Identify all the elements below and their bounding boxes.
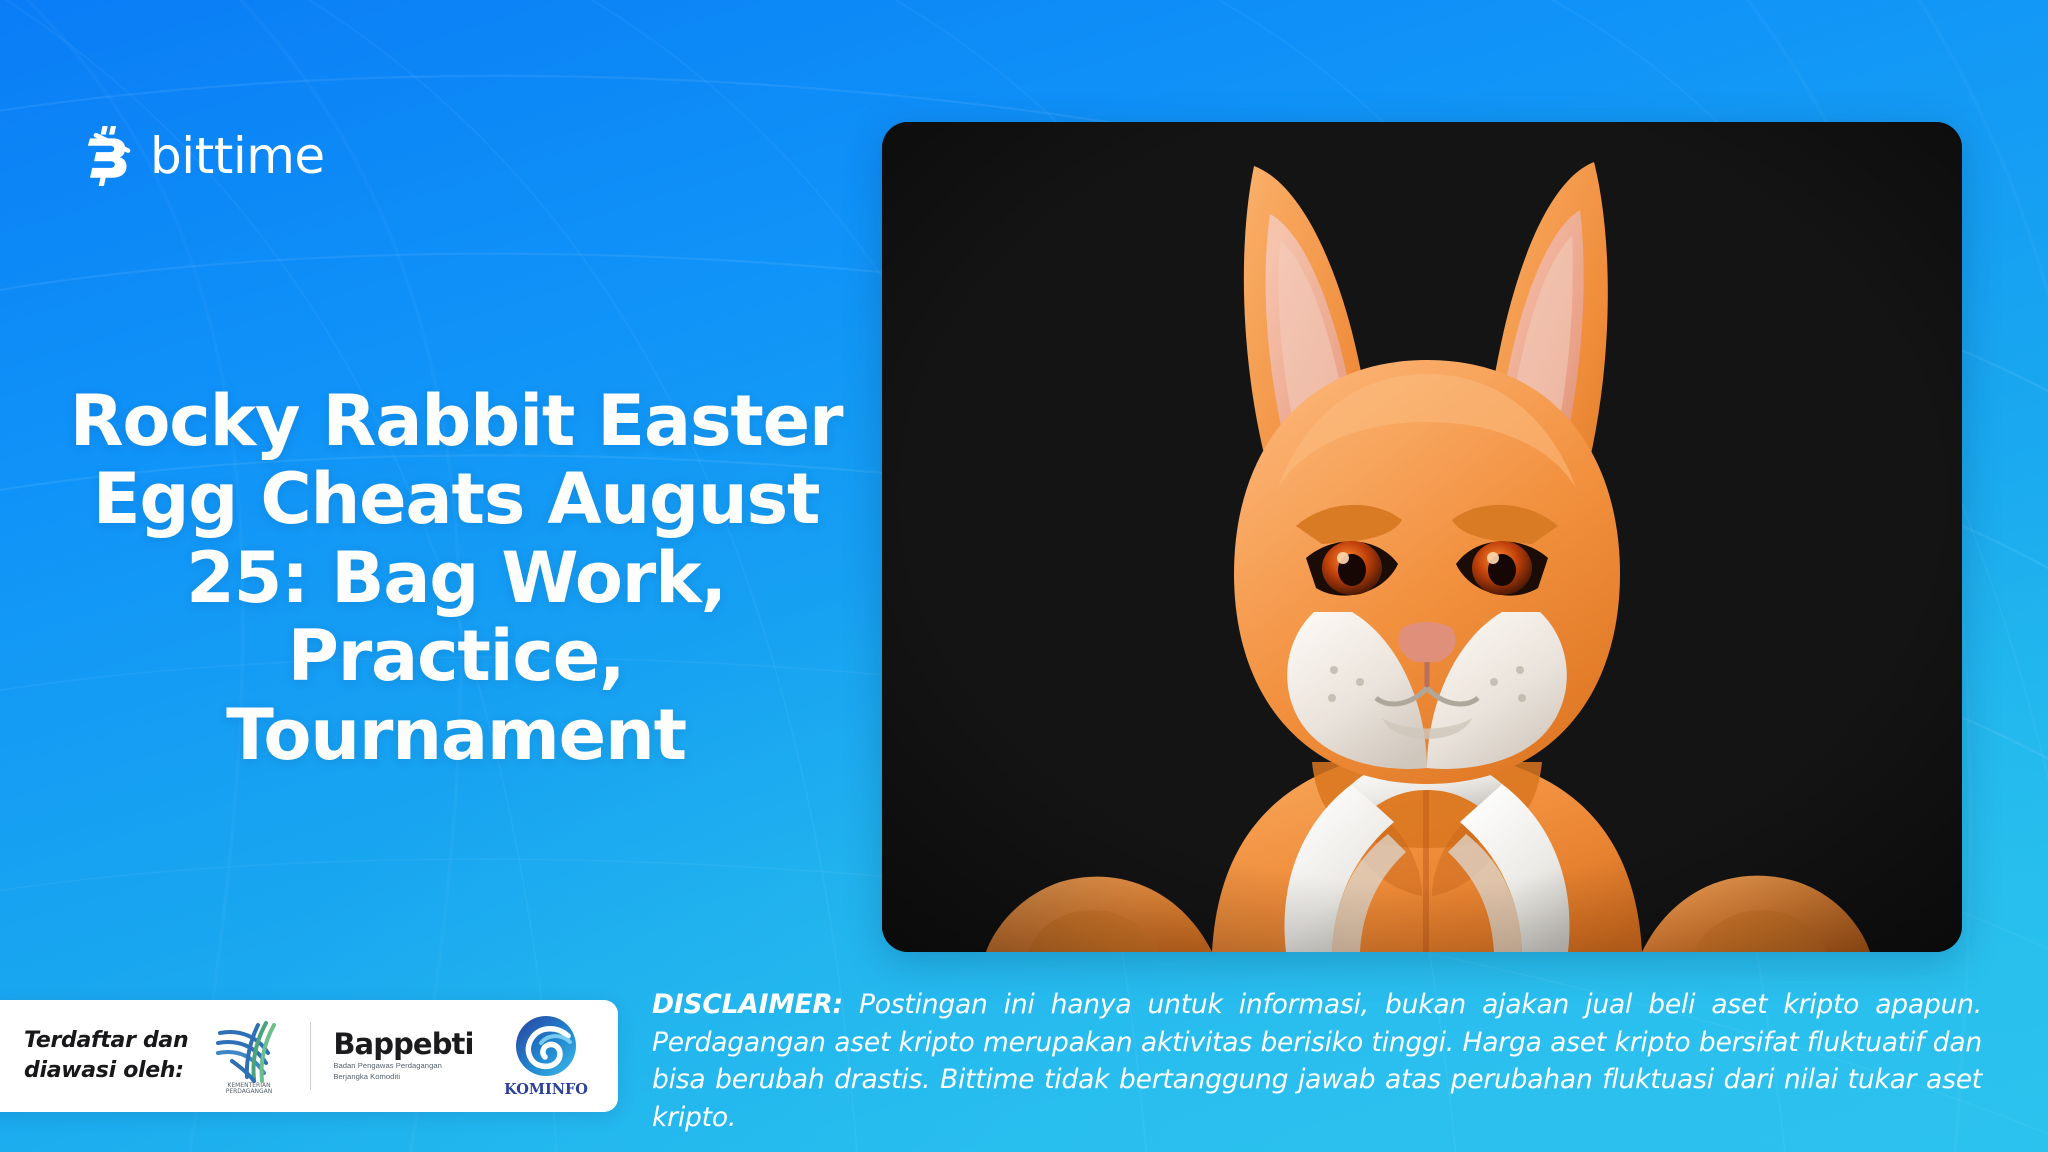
kemendag-caption-2: PERDAGANGAN — [226, 1088, 273, 1095]
rocky-rabbit-character-illustration — [882, 122, 1962, 952]
disclaimer-label: DISCLAIMER: — [652, 989, 843, 1020]
bappebti-logo: Bappebti Badan Pengawas Perdagangan Berj… — [333, 1030, 478, 1081]
kominfo-name: KOMINFO — [504, 1081, 588, 1098]
promo-banner: bittime Rocky Rabbit Easter Egg Cheats A… — [0, 0, 2048, 1152]
regulator-lead-line-2: diawasi oleh: — [24, 1058, 184, 1083]
regulator-lead-text: Terdaftar dan diawasi oleh: — [24, 1026, 188, 1087]
disclaimer-body: Postingan ini hanya untuk informasi, buk… — [652, 989, 1982, 1095]
regulator-lead-line-1: Terdaftar dan — [24, 1028, 188, 1053]
regulator-badge-bar: Terdaftar dan diawasi oleh: KEMENTERIAN … — [0, 1000, 618, 1112]
page-title: Rocky Rabbit Easter Egg Cheats August 25… — [56, 382, 856, 774]
brand-logo[interactable]: bittime — [88, 124, 325, 188]
bittime-b-logo-icon — [88, 126, 134, 186]
hero-image-card — [882, 122, 1962, 952]
bappebti-subtitle: Badan Pengawas Perdagangan Berjangka Kom… — [333, 1061, 478, 1081]
badge-divider — [310, 1022, 311, 1090]
kemendag-logo-icon: KEMENTERIAN PERDAGANGAN — [210, 1015, 288, 1097]
kominfo-logo-icon: KOMINFO — [500, 1012, 592, 1100]
brand-name: bittime — [150, 131, 325, 181]
disclaimer-text: DISCLAIMER: Postingan ini hanya untuk in… — [652, 986, 1982, 1137]
bappebti-name: Bappebti — [333, 1030, 478, 1059]
kemendag-logo: KEMENTERIAN PERDAGANGAN — [210, 1015, 288, 1097]
kominfo-logo: KOMINFO — [500, 1012, 592, 1100]
